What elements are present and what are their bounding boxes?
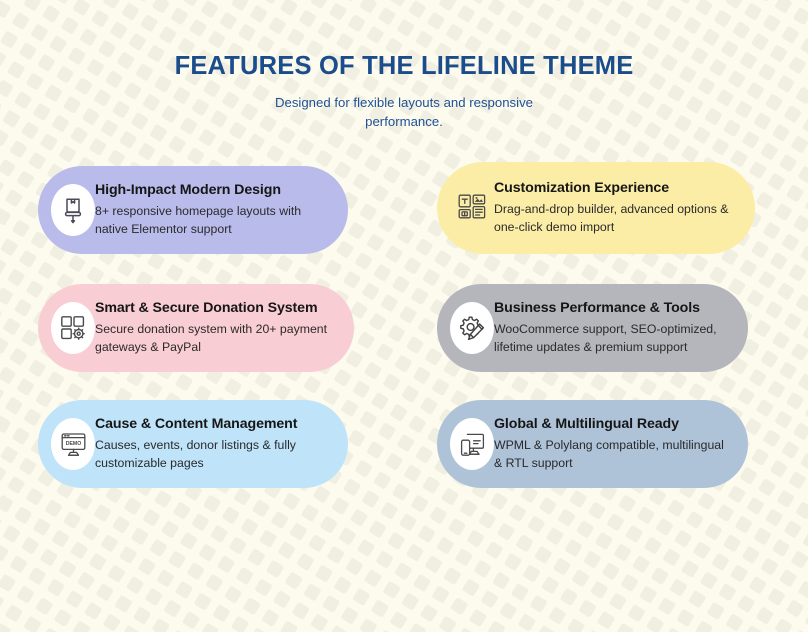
plugin-icon [51,184,95,236]
page-subtitle: Designed for flexible layouts and respon… [270,93,538,131]
feature-card-high-impact-modern-design[interactable]: High-Impact Modern Design 8+ responsive … [38,166,348,254]
header: FEATURES OF THE LIFELINE THEME Designed … [0,52,808,132]
card-title: Smart & Secure Donation System [95,300,340,317]
card-title: Cause & Content Management [95,416,334,433]
feature-card-global-multilingual-ready[interactable]: Global & Multilingual Ready WPML & Polyl… [437,400,748,488]
card-title: Business Performance & Tools [494,300,734,317]
card-description: Drag-and-drop builder, advanced options … [494,201,739,236]
svg-text:DEMO: DEMO [65,441,81,447]
card-text: Cause & Content Management Causes, event… [95,416,334,472]
card-text: Customization Experience Drag-and-drop b… [494,180,739,236]
devices-icon [450,418,494,470]
card-text: Smart & Secure Donation System Secure do… [95,300,340,356]
feature-card-business-performance-tools[interactable]: Business Performance & Tools WooCommerce… [437,284,748,372]
card-text: Business Performance & Tools WooCommerce… [494,300,734,356]
card-description: Secure donation system with 20+ payment … [95,321,340,356]
card-title: Customization Experience [494,180,739,197]
card-description: Causes, events, donor listings & fully c… [95,437,334,472]
infographic-page: FEATURES OF THE LIFELINE THEME Designed … [0,0,808,632]
card-description: 8+ responsive homepage layouts with nati… [95,203,332,238]
gear-pencil-icon [450,302,494,354]
page-title: FEATURES OF THE LIFELINE THEME [0,52,808,81]
card-text: Global & Multilingual Ready WPML & Polyl… [494,416,734,472]
monitor-demo-icon: DEMO [51,418,95,470]
card-title: High-Impact Modern Design [95,182,332,199]
feature-card-cause-content-management[interactable]: DEMO Cause & Content Management Causes, … [38,400,348,488]
card-description: WooCommerce support, SEO-optimized, life… [494,321,734,356]
layout-builder-icon [450,182,494,234]
feature-card-smart-secure-donation-system[interactable]: Smart & Secure Donation System Secure do… [38,284,354,372]
feature-card-customization-experience[interactable]: Customization Experience Drag-and-drop b… [437,162,755,254]
card-text: High-Impact Modern Design 8+ responsive … [95,182,332,238]
grid-settings-icon [51,302,95,354]
card-title: Global & Multilingual Ready [494,416,734,433]
card-description: WPML & Polylang compatible, multilingual… [494,437,734,472]
